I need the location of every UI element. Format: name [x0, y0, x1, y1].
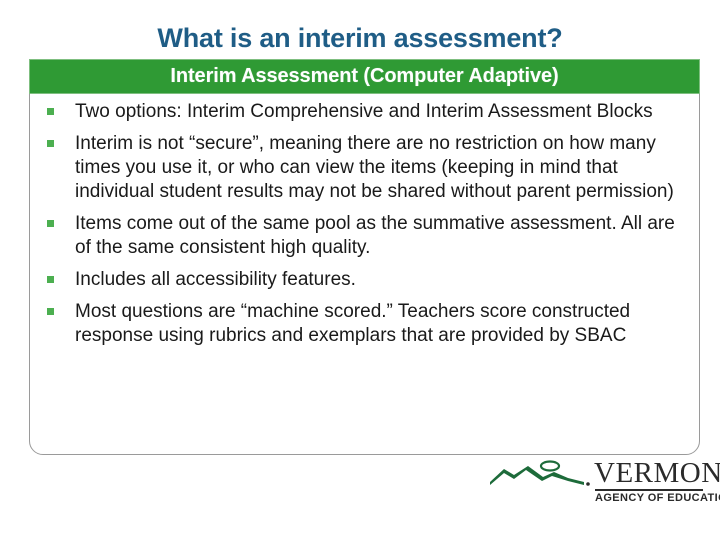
mountain-icon	[488, 460, 600, 490]
section-header-bar: Interim Assessment (Computer Adaptive)	[29, 59, 700, 94]
square-bullet-icon	[47, 108, 54, 115]
list-item: Interim is not “secure”, meaning there a…	[29, 132, 700, 204]
square-bullet-icon	[47, 276, 54, 283]
list-item: Includes all accessibility features.	[29, 268, 700, 292]
slide-canvas: What is an interim assessment? Interim A…	[0, 0, 720, 539]
bullet-list: Two options: Interim Comprehensive and I…	[29, 100, 700, 356]
list-item: Most questions are “machine scored.” Tea…	[29, 300, 700, 348]
list-item: Two options: Interim Comprehensive and I…	[29, 100, 700, 124]
logo-tagline: AGENCY OF EDUCATION	[595, 491, 705, 505]
list-item-label: Two options: Interim Comprehensive and I…	[75, 100, 686, 124]
list-item: Items come out of the same pool as the s…	[29, 212, 700, 260]
square-bullet-icon	[47, 220, 54, 227]
list-item-label: Includes all accessibility features.	[75, 268, 686, 292]
section-header-label: Interim Assessment (Computer Adaptive)	[170, 65, 558, 88]
square-bullet-icon	[47, 140, 54, 147]
logo-wordmark: VERMONT	[594, 458, 720, 489]
list-item-label: Interim is not “secure”, meaning there a…	[75, 132, 686, 204]
page-title: What is an interim assessment?	[0, 21, 720, 55]
vermont-agency-of-education-logo: VERMONT AGENCY OF EDUCATION	[488, 458, 704, 510]
list-item-label: Most questions are “machine scored.” Tea…	[75, 300, 686, 348]
square-bullet-icon	[47, 308, 54, 315]
list-item-label: Items come out of the same pool as the s…	[75, 212, 686, 260]
